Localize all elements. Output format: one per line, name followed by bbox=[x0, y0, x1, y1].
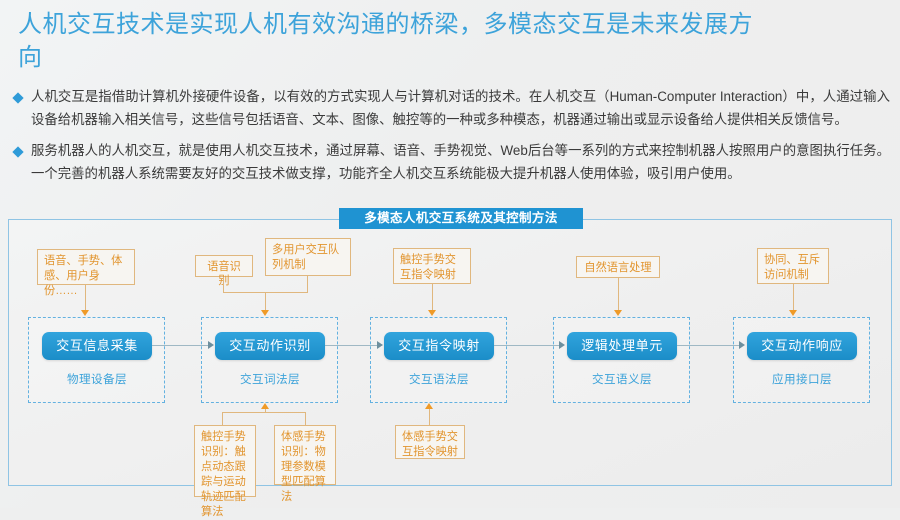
arrow-down-icon bbox=[789, 310, 797, 316]
arrow-down-icon bbox=[261, 310, 269, 316]
arrow-up-icon bbox=[425, 403, 433, 409]
arrow-right-icon bbox=[208, 341, 214, 349]
flow-connector bbox=[494, 345, 560, 346]
arrow-up-icon bbox=[261, 403, 269, 409]
orange-box-motion-gesture-recog: 体感手势识别：物理参数模型匹配算法 bbox=[274, 425, 336, 485]
orange-box-motion-gesture-command: 体感手势交互指令映射 bbox=[395, 425, 465, 459]
connector-line bbox=[618, 278, 619, 311]
orange-box-access-mechanism: 协同、互斥访问机制 bbox=[757, 248, 829, 284]
arrow-down-icon bbox=[81, 310, 89, 316]
stage-group-recognize bbox=[201, 317, 338, 403]
layer-label-map: 交互语法层 bbox=[384, 372, 494, 388]
flow-connector bbox=[325, 345, 378, 346]
layer-label-respond: 应用接口层 bbox=[747, 372, 857, 388]
node-collect[interactable]: 交互信息采集 bbox=[42, 332, 152, 360]
connector-line bbox=[223, 277, 224, 293]
flow-connector bbox=[677, 345, 740, 346]
connector-line bbox=[222, 412, 306, 413]
connector-line bbox=[793, 284, 794, 311]
page-title: 人机交互技术是实现人机有效沟通的桥梁，多模态交互是未来发展方向 bbox=[18, 8, 758, 74]
bullet-paragraph-2: 服务机器人的人机交互，就是使用人机交互技术，通过屏幕、语音、手势视觉、Web后台… bbox=[31, 140, 890, 185]
connector-line bbox=[265, 409, 266, 413]
orange-box-speech-recognition: 语音识别 bbox=[195, 255, 253, 277]
arrow-down-icon bbox=[614, 310, 622, 316]
arrow-right-icon bbox=[377, 341, 383, 349]
connector-line bbox=[85, 285, 86, 311]
orange-box-touch-gesture-mapping: 触控手势交互指令映射 bbox=[393, 248, 471, 284]
node-logic[interactable]: 逻辑处理单元 bbox=[567, 332, 677, 360]
bullet-paragraph-1: 人机交互是指借助计算机外接硬件设备，以有效的方式实现人与计算机对话的技术。在人机… bbox=[31, 86, 890, 131]
connector-line bbox=[305, 412, 306, 425]
connector-line bbox=[222, 412, 223, 425]
diagram-frame: 语音、手势、体感、用户身份…… 语音识别 多用户交互队列机制 触控手势交互指令映… bbox=[8, 219, 892, 486]
layer-label-collect: 物理设备层 bbox=[42, 372, 152, 388]
diamond-bullet-icon bbox=[12, 92, 23, 103]
orange-box-multiuser-queue: 多用户交互队列机制 bbox=[265, 238, 351, 276]
stage-group-respond bbox=[733, 317, 870, 403]
arrow-right-icon bbox=[559, 341, 565, 349]
node-respond[interactable]: 交互动作响应 bbox=[747, 332, 857, 360]
orange-box-nlp: 自然语言处理 bbox=[576, 256, 660, 278]
orange-box-input-modalities: 语音、手势、体感、用户身份…… bbox=[37, 249, 135, 285]
arrow-right-icon bbox=[739, 341, 745, 349]
stage-group-map bbox=[370, 317, 507, 403]
stage-group-logic bbox=[553, 317, 690, 403]
layer-label-logic: 交互语义层 bbox=[567, 372, 677, 388]
stage-group-collect bbox=[28, 317, 165, 403]
connector-line bbox=[429, 409, 430, 425]
node-recognize[interactable]: 交互动作识别 bbox=[215, 332, 325, 360]
slide-canvas: 人机交互技术是实现人机有效沟通的桥梁，多模态交互是未来发展方向 人机交互是指借助… bbox=[0, 0, 900, 508]
list-item: 服务机器人的人机交互，就是使用人机交互技术，通过屏幕、语音、手势视觉、Web后台… bbox=[14, 140, 890, 185]
bullet-list: 人机交互是指借助计算机外接硬件设备，以有效的方式实现人与计算机对话的技术。在人机… bbox=[14, 86, 890, 194]
connector-line bbox=[307, 276, 308, 293]
diagram-title-banner: 多模态人机交互系统及其控制方法 bbox=[339, 208, 583, 229]
diamond-bullet-icon bbox=[12, 146, 23, 157]
arrow-down-icon bbox=[428, 310, 436, 316]
list-item: 人机交互是指借助计算机外接硬件设备，以有效的方式实现人与计算机对话的技术。在人机… bbox=[14, 86, 890, 131]
flow-connector bbox=[152, 345, 209, 346]
node-map[interactable]: 交互指令映射 bbox=[384, 332, 494, 360]
orange-box-touch-gesture-recog: 触控手势识别：触点动态跟踪与运动轨迹匹配算法 bbox=[194, 425, 256, 497]
layer-label-recognize: 交互词法层 bbox=[215, 372, 325, 388]
connector-line bbox=[432, 284, 433, 311]
connector-line bbox=[265, 292, 266, 311]
